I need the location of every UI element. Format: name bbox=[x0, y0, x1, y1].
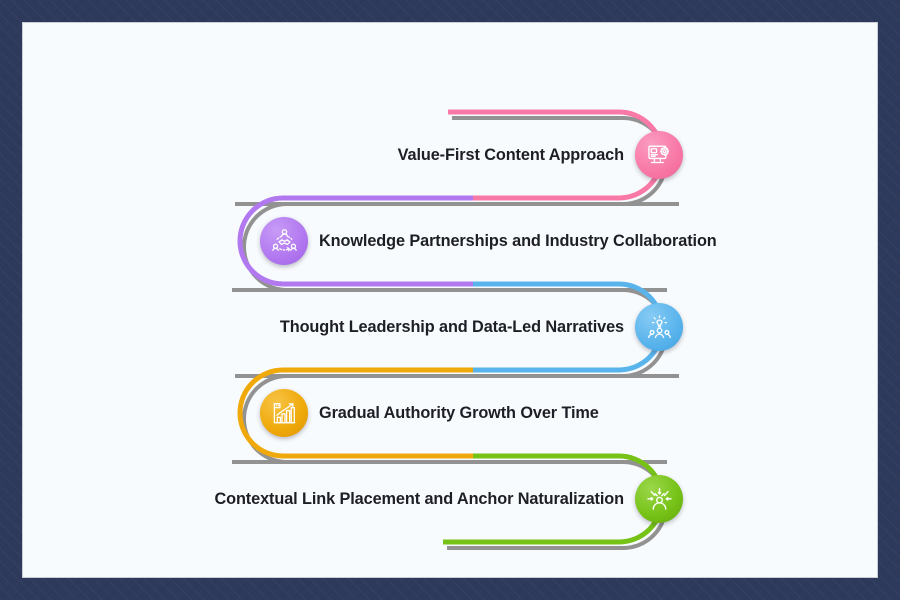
list-item[interactable]: Contextual Link Placement and Anchor Nat… bbox=[214, 471, 683, 527]
badge-spotlight-person-icon[interactable] bbox=[635, 475, 683, 523]
badge-handshake-network-icon[interactable] bbox=[260, 217, 308, 265]
badge-growth-chart-icon[interactable] bbox=[260, 389, 308, 437]
lightbulb-team-icon bbox=[646, 314, 673, 341]
list-item[interactable]: Thought Leadership and Data-Led Narrativ… bbox=[280, 299, 683, 355]
list-item[interactable]: Gradual Authority Growth Over Time bbox=[260, 385, 599, 441]
handshake-network-icon bbox=[271, 228, 298, 255]
badge-lightbulb-team-icon[interactable] bbox=[635, 303, 683, 351]
monitor-gear-icon bbox=[646, 142, 673, 169]
row-label-contextual-link-placement: Contextual Link Placement and Anchor Nat… bbox=[214, 491, 624, 507]
screenshot-root: Value-First Content Approach bbox=[0, 0, 900, 600]
row-label-value-first-content-approach: Value-First Content Approach bbox=[398, 147, 624, 163]
row-label-gradual-authority-growth: Gradual Authority Growth Over Time bbox=[319, 405, 599, 421]
spotlight-person-icon bbox=[646, 486, 673, 513]
badge-monitor-gear-icon[interactable] bbox=[635, 131, 683, 179]
list-item[interactable]: Value-First Content Approach bbox=[398, 127, 683, 183]
list-item[interactable]: Knowledge Partnerships and Industry Coll… bbox=[260, 213, 717, 269]
row-label-thought-leadership: Thought Leadership and Data-Led Narrativ… bbox=[280, 319, 624, 335]
infographic-card: Value-First Content Approach bbox=[22, 22, 878, 578]
growth-chart-icon bbox=[271, 400, 298, 427]
row-label-knowledge-partnerships: Knowledge Partnerships and Industry Coll… bbox=[319, 233, 717, 249]
